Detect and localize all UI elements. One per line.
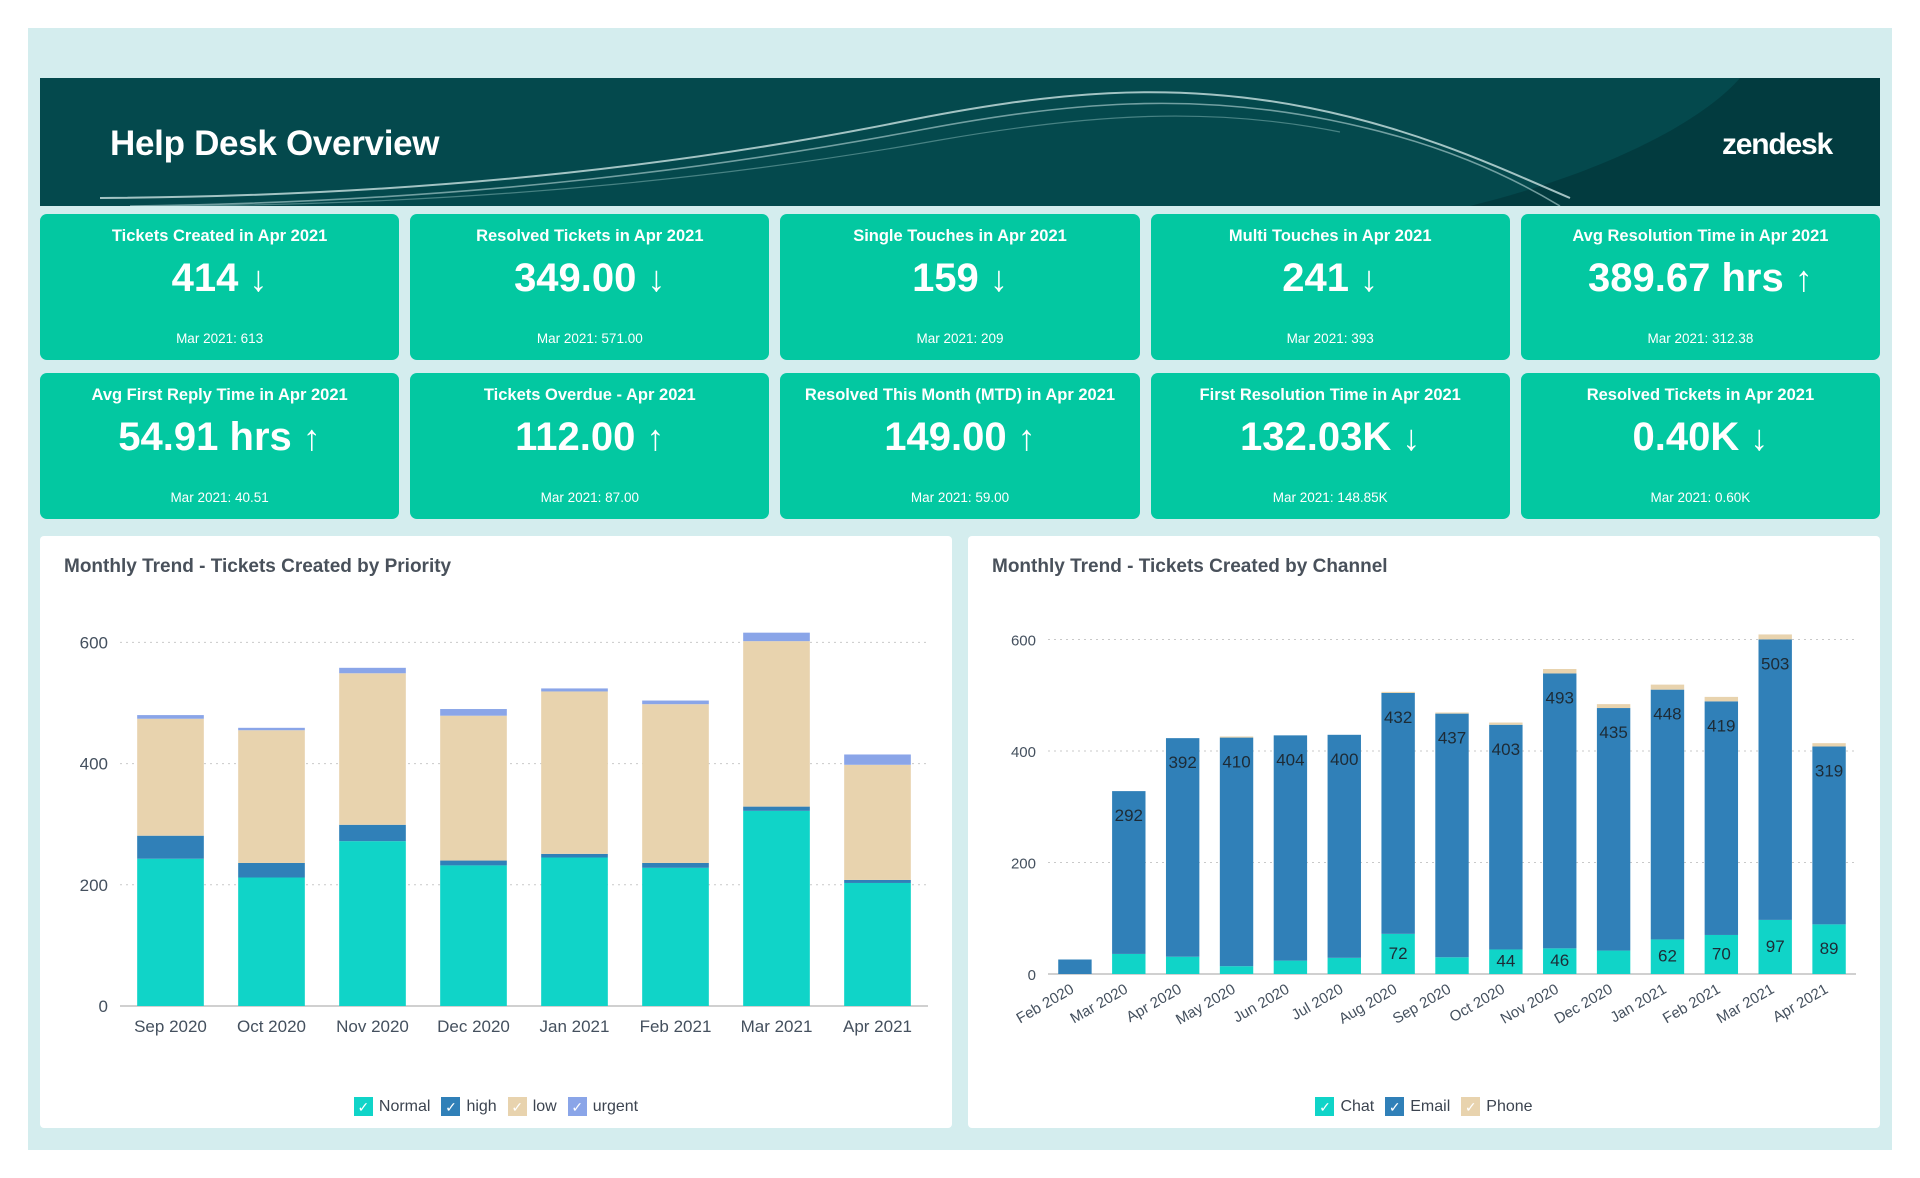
kpi-label: Tickets Created in Apr 2021 (106, 227, 334, 245)
svg-text:503: 503 (1761, 654, 1789, 673)
kpi-tile[interactable]: Tickets Created in Apr 2021 414 ↓ Mar 20… (40, 214, 399, 360)
kpi-number: 241 (1282, 256, 1349, 300)
kpi-label: Resolved Tickets in Apr 2021 (470, 227, 709, 245)
kpi-comparison: Mar 2021: 148.85K (1273, 490, 1388, 505)
legend-checkbox-icon[interactable]: ✓ (568, 1097, 587, 1116)
trend-arrow-icon: ↓ (1402, 417, 1420, 458)
svg-text:437: 437 (1438, 729, 1466, 748)
svg-text:Mar 2020: Mar 2020 (1067, 981, 1130, 1027)
kpi-label: Resolved This Month (MTD) in Apr 2021 (799, 386, 1121, 404)
svg-text:62: 62 (1658, 947, 1677, 966)
kpi-row-2: Avg First Reply Time in Apr 2021 54.91 h… (40, 373, 1880, 519)
svg-text:419: 419 (1707, 716, 1735, 735)
kpi-value: 389.67 hrs ↑ (1588, 257, 1813, 299)
chart-legend-priority: ✓Normal✓high✓low✓urgent (40, 1097, 952, 1116)
legend-label: low (533, 1098, 557, 1116)
svg-text:200: 200 (80, 876, 108, 895)
svg-text:Nov 2020: Nov 2020 (1498, 981, 1562, 1028)
page-title: Help Desk Overview (110, 124, 439, 164)
kpi-number: 132.03K (1240, 415, 1391, 459)
kpi-value: 54.91 hrs ↑ (118, 416, 321, 458)
legend-checkbox-icon[interactable]: ✓ (1461, 1097, 1480, 1116)
trend-arrow-icon: ↓ (1750, 417, 1768, 458)
kpi-comparison: Mar 2021: 209 (916, 331, 1003, 346)
svg-text:72: 72 (1389, 944, 1408, 963)
kpi-value: 349.00 ↓ (514, 257, 665, 299)
kpi-comparison: Mar 2021: 40.51 (170, 490, 268, 505)
legend-label: Email (1410, 1098, 1450, 1116)
trend-arrow-icon: ↓ (1360, 258, 1378, 299)
legend-checkbox-icon[interactable]: ✓ (441, 1097, 460, 1116)
kpi-label: Avg First Reply Time in Apr 2021 (86, 386, 354, 404)
svg-text:May 2020: May 2020 (1173, 981, 1239, 1029)
kpi-label: Single Touches in Apr 2021 (847, 227, 1073, 245)
svg-text:0: 0 (99, 997, 108, 1016)
svg-text:70: 70 (1712, 944, 1731, 963)
svg-text:Feb 2020: Feb 2020 (1014, 981, 1077, 1027)
kpi-tile[interactable]: Avg First Reply Time in Apr 2021 54.91 h… (40, 373, 399, 519)
dashboard-root: Help Desk Overview zendesk Tickets Creat… (28, 28, 1892, 1150)
kpi-tile[interactable]: First Resolution Time in Apr 2021 132.03… (1151, 373, 1510, 519)
kpi-value: 132.03K ↓ (1240, 416, 1420, 458)
svg-text:404: 404 (1276, 750, 1304, 769)
header-banner: Help Desk Overview zendesk (40, 78, 1880, 206)
legend-checkbox-icon[interactable]: ✓ (354, 1097, 373, 1116)
chart-title-channel: Monthly Trend - Tickets Created by Chann… (992, 556, 1388, 578)
svg-text:600: 600 (80, 633, 108, 652)
chart-legend-channel: ✓Chat✓Email✓Phone (968, 1097, 1880, 1116)
kpi-comparison: Mar 2021: 571.00 (537, 331, 643, 346)
svg-text:292: 292 (1115, 806, 1143, 825)
legend-checkbox-icon[interactable]: ✓ (508, 1097, 527, 1116)
svg-text:46: 46 (1550, 951, 1569, 970)
trend-arrow-icon: ↓ (648, 258, 666, 299)
svg-text:0: 0 (1028, 967, 1036, 984)
svg-text:Apr 2021: Apr 2021 (843, 1017, 912, 1036)
kpi-number: 414 (172, 256, 239, 300)
svg-text:Feb 2021: Feb 2021 (640, 1017, 712, 1036)
svg-text:392: 392 (1168, 753, 1196, 772)
priority-bar-chart[interactable]: 0200400600Sep 2020Oct 2020Nov 2020Dec 20… (40, 588, 952, 1058)
kpi-value: 0.40K ↓ (1632, 416, 1768, 458)
svg-text:Sep 2020: Sep 2020 (134, 1017, 207, 1036)
svg-text:Jan 2021: Jan 2021 (1608, 981, 1670, 1027)
svg-text:400: 400 (1011, 744, 1036, 761)
svg-text:Oct 2020: Oct 2020 (1447, 981, 1508, 1026)
svg-text:319: 319 (1815, 762, 1843, 781)
svg-text:97: 97 (1766, 937, 1785, 956)
kpi-number: 112.00 (515, 415, 635, 459)
kpi-tile[interactable]: Multi Touches in Apr 2021 241 ↓ Mar 2021… (1151, 214, 1510, 360)
kpi-label: Resolved Tickets in Apr 2021 (1581, 386, 1820, 404)
trend-arrow-icon: ↓ (990, 258, 1008, 299)
legend-label: high (466, 1098, 496, 1116)
kpi-comparison: Mar 2021: 59.00 (911, 490, 1009, 505)
svg-text:Aug 2020: Aug 2020 (1336, 981, 1400, 1028)
svg-text:448: 448 (1653, 705, 1681, 724)
chart-title-priority: Monthly Trend - Tickets Created by Prior… (64, 556, 451, 578)
svg-text:Nov 2020: Nov 2020 (336, 1017, 409, 1036)
trend-arrow-icon: ↓ (250, 258, 268, 299)
kpi-tile[interactable]: Avg Resolution Time in Apr 2021 389.67 h… (1521, 214, 1880, 360)
svg-text:400: 400 (80, 755, 108, 774)
kpi-value: 241 ↓ (1282, 257, 1378, 299)
kpi-value: 414 ↓ (172, 257, 268, 299)
kpi-number: 0.40K (1632, 415, 1739, 459)
kpi-tile[interactable]: Single Touches in Apr 2021 159 ↓ Mar 202… (780, 214, 1139, 360)
svg-text:Sep 2020: Sep 2020 (1390, 981, 1454, 1028)
svg-text:Jun 2020: Jun 2020 (1230, 981, 1292, 1027)
svg-text:44: 44 (1496, 952, 1515, 971)
svg-text:Mar 2021: Mar 2021 (741, 1017, 813, 1036)
kpi-comparison: Mar 2021: 87.00 (541, 490, 639, 505)
svg-text:Dec 2020: Dec 2020 (1551, 981, 1615, 1028)
kpi-number: 349.00 (514, 256, 636, 300)
channel-bar-chart[interactable]: 0200400600Feb 2020292Mar 2020392Apr 2020… (968, 588, 1880, 1058)
kpi-number: 159 (912, 256, 979, 300)
kpi-number: 149.00 (884, 415, 1006, 459)
legend-item[interactable]: ✓Normal (354, 1097, 431, 1116)
kpi-comparison: Mar 2021: 0.60K (1651, 490, 1751, 505)
kpi-comparison: Mar 2021: 613 (176, 331, 263, 346)
svg-text:Dec 2020: Dec 2020 (437, 1017, 510, 1036)
svg-text:200: 200 (1011, 855, 1036, 872)
legend-item[interactable]: ✓high (441, 1097, 496, 1116)
kpi-tile[interactable]: Resolved Tickets in Apr 2021 0.40K ↓ Mar… (1521, 373, 1880, 519)
kpi-value: 149.00 ↑ (884, 416, 1035, 458)
legend-label: Normal (379, 1098, 431, 1116)
svg-text:Mar 2021: Mar 2021 (1714, 981, 1777, 1027)
trend-arrow-icon: ↑ (1018, 417, 1036, 458)
kpi-comparison: Mar 2021: 312.38 (1648, 331, 1754, 346)
charts-area: Monthly Trend - Tickets Created by Prior… (40, 536, 1880, 1128)
trend-arrow-icon: ↑ (646, 417, 664, 458)
trend-arrow-icon: ↑ (303, 417, 321, 458)
legend-checkbox-icon[interactable]: ✓ (1385, 1097, 1404, 1116)
kpi-tile[interactable]: Resolved This Month (MTD) in Apr 2021 14… (780, 373, 1139, 519)
legend-item[interactable]: ✓Email (1385, 1097, 1450, 1116)
chart-panel-channel: Monthly Trend - Tickets Created by Chann… (968, 536, 1880, 1128)
svg-text:432: 432 (1384, 708, 1412, 727)
kpi-value: 159 ↓ (912, 257, 1008, 299)
zendesk-logo: zendesk (1722, 128, 1832, 162)
legend-label: Chat (1340, 1098, 1374, 1116)
legend-item[interactable]: ✓Phone (1461, 1097, 1532, 1116)
svg-text:493: 493 (1546, 688, 1574, 707)
kpi-label: First Resolution Time in Apr 2021 (1194, 386, 1467, 404)
kpi-tile[interactable]: Resolved Tickets in Apr 2021 349.00 ↓ Ma… (410, 214, 769, 360)
trend-arrow-icon: ↑ (1795, 258, 1813, 299)
kpi-comparison: Mar 2021: 393 (1287, 331, 1374, 346)
kpi-label: Multi Touches in Apr 2021 (1223, 227, 1438, 245)
svg-text:400: 400 (1330, 750, 1358, 769)
legend-label: Phone (1486, 1098, 1532, 1116)
legend-item[interactable]: ✓Chat (1315, 1097, 1374, 1116)
kpi-row-1: Tickets Created in Apr 2021 414 ↓ Mar 20… (40, 214, 1880, 360)
legend-item[interactable]: ✓low (508, 1097, 557, 1116)
kpi-number: 389.67 hrs (1588, 256, 1784, 300)
legend-item[interactable]: ✓urgent (568, 1097, 638, 1116)
svg-text:410: 410 (1222, 753, 1250, 772)
kpi-label: Avg Resolution Time in Apr 2021 (1566, 227, 1834, 245)
svg-text:89: 89 (1820, 939, 1839, 958)
kpi-tile[interactable]: Tickets Overdue - Apr 2021 112.00 ↑ Mar … (410, 373, 769, 519)
svg-text:Oct 2020: Oct 2020 (237, 1017, 306, 1036)
svg-text:600: 600 (1011, 632, 1036, 649)
kpi-number: 54.91 hrs (118, 415, 291, 459)
kpi-label: Tickets Overdue - Apr 2021 (478, 386, 702, 404)
kpi-value: 112.00 ↑ (515, 416, 664, 458)
legend-label: urgent (593, 1098, 638, 1116)
svg-text:Apr 2021: Apr 2021 (1770, 981, 1831, 1026)
legend-checkbox-icon[interactable]: ✓ (1315, 1097, 1334, 1116)
svg-text:403: 403 (1492, 740, 1520, 759)
svg-text:435: 435 (1599, 723, 1627, 742)
chart-panel-priority: Monthly Trend - Tickets Created by Prior… (40, 536, 952, 1128)
svg-text:Feb 2021: Feb 2021 (1660, 981, 1723, 1027)
svg-text:Jan 2021: Jan 2021 (540, 1017, 610, 1036)
